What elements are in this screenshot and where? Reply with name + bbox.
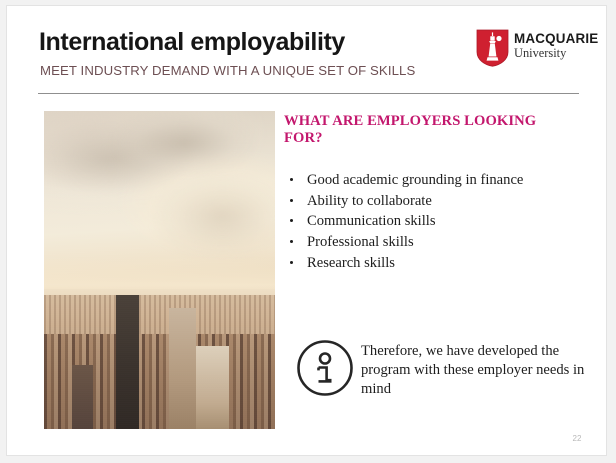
list-item-label: Ability to collaborate	[307, 193, 432, 209]
photo-tower	[196, 346, 228, 429]
list-item-label: Good academic grounding in finance	[307, 172, 523, 188]
callout-text: Therefore, we have developed the program…	[361, 342, 596, 399]
photo-tower	[72, 365, 93, 429]
header-divider	[38, 93, 579, 94]
list-item-label: Professional skills	[307, 234, 414, 250]
list-item: Communication skills	[288, 211, 588, 232]
bullet-icon	[290, 261, 293, 264]
presentation-canvas: International employability MEET INDUSTR…	[0, 0, 616, 463]
photo-tower	[169, 308, 197, 429]
list-item-label: Communication skills	[307, 213, 436, 229]
photo-cloud	[113, 111, 256, 175]
page-number: 22	[565, 434, 589, 443]
photo-cloud	[155, 175, 275, 258]
list-item: Good academic grounding in finance	[288, 170, 588, 191]
lighthouse-crest-icon	[476, 29, 509, 67]
page-subtitle: MEET INDUSTRY DEMAND WITH A UNIQUE SET O…	[40, 63, 415, 78]
info-circle-icon	[296, 339, 354, 397]
slide: International employability MEET INDUSTR…	[6, 5, 607, 456]
employers-heading: WHAT ARE EMPLOYERS LOOKING FOR?	[284, 113, 574, 147]
macquarie-university-logo: MACQUARIE University	[472, 26, 592, 71]
list-item-label: Research skills	[307, 255, 395, 271]
skills-list: Good academic grounding in finance Abili…	[288, 170, 588, 274]
photo-tower	[116, 295, 139, 429]
bullet-icon	[290, 178, 293, 181]
bullet-icon	[290, 199, 293, 202]
logo-wordmark: MACQUARIE University	[514, 31, 598, 60]
list-item: Research skills	[288, 253, 588, 274]
logo-subname: University	[514, 46, 598, 60]
page-title: International employability	[39, 28, 345, 57]
logo-name: MACQUARIE	[514, 31, 598, 46]
info-callout: Therefore, we have developed the program…	[296, 339, 596, 401]
bullet-icon	[290, 240, 293, 243]
cityscape-photo	[44, 111, 275, 429]
list-item: Ability to collaborate	[288, 191, 588, 212]
bullet-icon	[290, 219, 293, 222]
list-item: Professional skills	[288, 232, 588, 253]
